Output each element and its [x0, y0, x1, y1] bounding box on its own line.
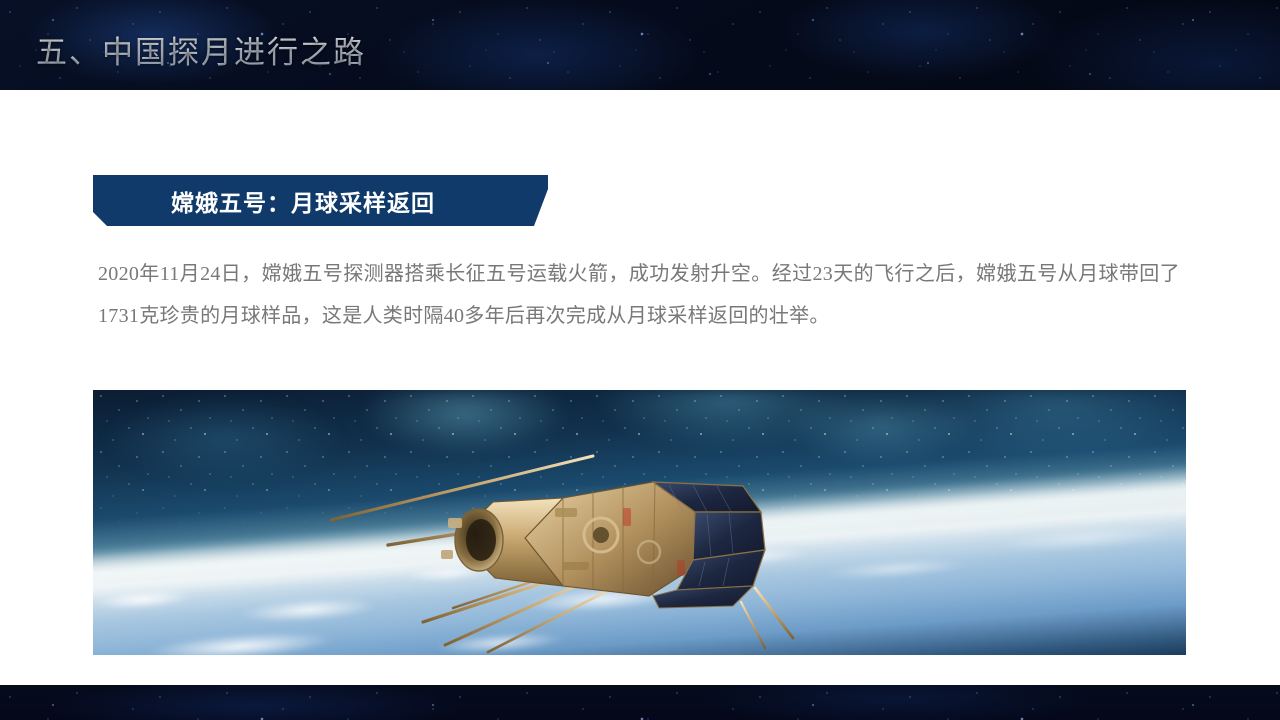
presentation-slide: 五、中国探月进行之路 嫦娥五号：月球采样返回 2020年11月24日，嫦娥五号探…	[0, 0, 1280, 720]
section-banner: 嫦娥五号：月球采样返回	[93, 175, 548, 226]
slide-header: 五、中国探月进行之路	[0, 0, 1280, 90]
body-paragraph: 2020年11月24日，嫦娥五号探测器搭乘长征五号运载火箭，成功发射升空。经过2…	[98, 253, 1180, 337]
satellite-photo	[93, 390, 1186, 655]
page-title: 五、中国探月进行之路	[36, 27, 366, 72]
section-banner-label: 嫦娥五号：月球采样返回	[171, 184, 435, 218]
satellite-icon	[93, 390, 1186, 655]
footer-starfield-bright-icon	[0, 685, 1280, 720]
footer-starfield-dust-icon	[0, 685, 1280, 720]
slide-footer	[0, 685, 1280, 720]
